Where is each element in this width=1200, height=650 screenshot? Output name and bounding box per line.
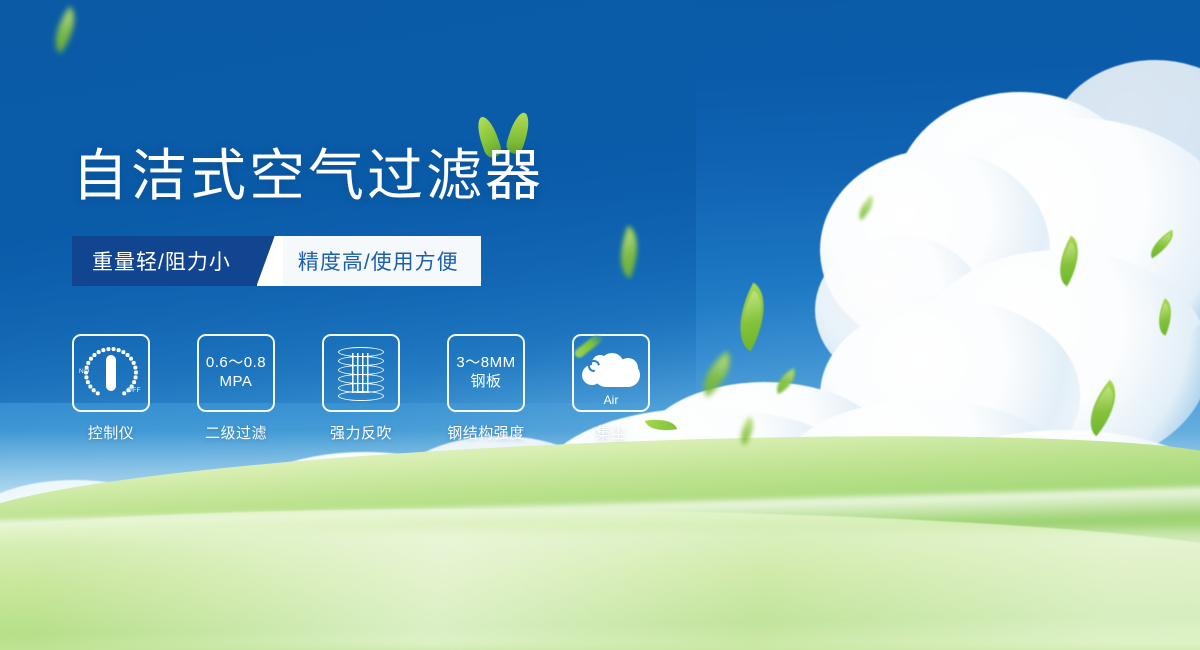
feature-label: 强力反吹 <box>322 422 400 443</box>
coil-graphic <box>336 347 386 399</box>
steel-plate-text-icon: 3～8MM 钢板 <box>447 334 525 412</box>
cloud-graphic: Air <box>580 351 642 393</box>
coil-ring <box>338 391 384 401</box>
dial-pointer-bar <box>106 355 116 391</box>
feature-item-steel-strength[interactable]: 3～8MM 钢板 钢结构强度 <box>447 334 525 443</box>
badge-precision-convenience: 精度高/使用方便 <box>282 236 481 286</box>
pressure-value-line2: MPA <box>220 373 253 392</box>
steel-value-line2: 钢板 <box>470 373 501 392</box>
feature-list: NO OFF 控制仪 0.6～0.8 MPA 二级过滤 <box>72 334 650 443</box>
pressure-text-icon: 0.6～0.8 MPA <box>197 334 275 412</box>
steel-value-line1: 3～8MM <box>456 354 515 373</box>
feature-item-strong-backblow[interactable]: 强力反吹 <box>322 334 400 443</box>
page-title: 自洁式空气过滤器 <box>72 148 544 204</box>
filter-coil-icon <box>322 334 400 412</box>
feature-label: 二级过滤 <box>197 422 275 443</box>
promo-banner: 自洁式空气过滤器 重量轻/阻力小 精度高/使用方便 NO OFF 控制仪 0.6… <box>0 0 1200 650</box>
subtitle-badges: 重量轻/阻力小 精度高/使用方便 <box>72 236 481 286</box>
dial-gauge-icon: NO OFF <box>72 334 150 412</box>
pressure-value-line1: 0.6～0.8 <box>206 354 266 373</box>
feature-item-secondary-filter[interactable]: 0.6～0.8 MPA 二级过滤 <box>197 334 275 443</box>
cloud-air-icon: Air <box>572 334 650 412</box>
dial-label-on: NO <box>79 368 90 375</box>
feature-item-dust-collection[interactable]: Air 集尘 <box>572 334 650 443</box>
feature-item-control-unit[interactable]: NO OFF 控制仪 <box>72 334 150 443</box>
badge-weight-resistance: 重量轻/阻力小 <box>72 236 257 286</box>
feature-label: 钢结构强度 <box>447 422 525 443</box>
badge-divider-slash <box>257 236 283 286</box>
cloud-body <box>594 363 640 387</box>
cloud-air-label: Air <box>580 393 642 407</box>
dial-graphic: NO OFF <box>80 344 142 402</box>
feature-label: 集尘 <box>572 422 650 443</box>
feature-label: 控制仪 <box>72 422 150 443</box>
grass-light-sheen <box>0 530 1200 650</box>
dial-label-off: OFF <box>127 387 141 394</box>
